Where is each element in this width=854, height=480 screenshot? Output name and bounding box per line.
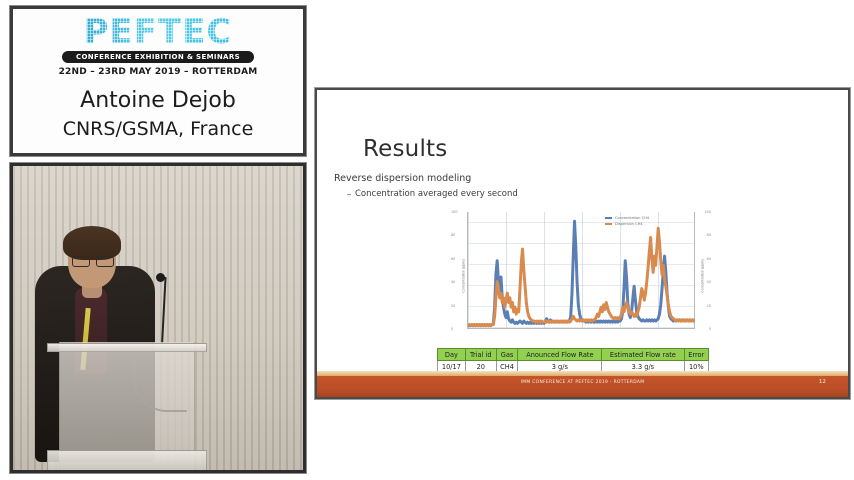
legend-item-1: Dispersion CH4: [605, 222, 649, 226]
legend-swatch-1: [605, 223, 612, 224]
legend-label-1: Dispersion CH4: [615, 222, 643, 226]
podium-top: [47, 450, 207, 470]
y-tick-left-0: 0: [451, 327, 453, 331]
legend-swatch-0: [605, 217, 612, 218]
footer-conference-label: IMM CONFERENCE AT PEFTEC 2019 - ROTTERDA…: [521, 380, 645, 385]
table-header-error: Error: [684, 349, 708, 361]
table-header-row: Day Trial id Gas Anounced Flow Rate Esti…: [438, 349, 709, 361]
peftec-dates-location: 22nd – 23rd MAY 2019 – ROTTERDAM: [59, 67, 258, 77]
presentation-screen: PEFTEC Conference Exhibition & Seminars …: [0, 0, 854, 480]
speaker-block: Antoine Dejob CNRS/GSMA, France: [13, 87, 303, 141]
y-tick-left-5: 100: [451, 210, 457, 214]
title-card: PEFTEC Conference Exhibition & Seminars …: [10, 6, 306, 156]
table-header-trial-id: Trial id: [465, 349, 496, 361]
podium-shelf: [47, 343, 207, 352]
glasses-icon: [72, 256, 114, 265]
y-tick-right-0: 0: [709, 327, 711, 331]
y-tick-right-3: 60: [707, 257, 711, 261]
slide-title: Results: [363, 136, 447, 162]
chart-legend: Concentration CH4 Dispersion CH4: [605, 216, 649, 226]
y-axis-right-title: Concentration (ppm): [700, 259, 704, 292]
slide-panel: Results Reverse dispersion modeling Conc…: [315, 88, 850, 399]
results-chart: Concentration (ppm) Concentration (ppm) …: [445, 208, 717, 343]
slide-footer: IMM CONFERENCE AT PEFTEC 2019 - ROTTERDA…: [317, 371, 848, 397]
speaker-hair: [63, 226, 121, 260]
table-header-day: Day: [438, 349, 466, 361]
bullet-dash-icon: [347, 194, 351, 195]
peftec-tagline-ribbon: Conference Exhibition & Seminars: [62, 51, 254, 63]
y-tick-left-2: 40: [451, 280, 455, 284]
speaker-affiliation: CNRS/GSMA, France: [13, 117, 303, 142]
speaker-video-panel: [10, 163, 306, 473]
slide-page-number: 12: [819, 379, 826, 385]
chart-plot-area: [467, 212, 695, 329]
y-tick-right-5: 100: [705, 210, 711, 214]
peftec-logo: PEFTEC Conference Exhibition & Seminars …: [13, 15, 303, 77]
y-tick-right-2: 40: [707, 280, 711, 284]
results-table-head: Day Trial id Gas Anounced Flow Rate Esti…: [438, 349, 709, 361]
table-header-gas: Gas: [496, 349, 518, 361]
y-tick-right-4: 80: [707, 233, 711, 237]
y-tick-left-4: 80: [451, 233, 455, 237]
y-tick-left-1: 20: [451, 304, 455, 308]
peftec-wordmark: PEFTEC: [84, 15, 233, 49]
speaker-name: Antoine Dejob: [13, 87, 303, 115]
slide-bullet-label: Concentration averaged every second: [355, 189, 518, 199]
slide-bullet-item: Concentration averaged every second: [347, 189, 518, 199]
microphone-icon: [156, 273, 165, 282]
legend-label-0: Concentration CH4: [615, 216, 649, 220]
chart-series-svg: [468, 212, 695, 328]
y-tick-right-1: 20: [707, 304, 711, 308]
legend-item-0: Concentration CH4: [605, 216, 649, 220]
table-header-estimated: Estimated Flow rate: [602, 349, 684, 361]
y-axis-left-title: Concentration (ppm): [462, 259, 466, 292]
results-table: Day Trial id Gas Anounced Flow Rate Esti…: [437, 348, 709, 373]
y-tick-left-3: 60: [451, 257, 455, 261]
slide-subheading: Reverse dispersion modeling: [334, 173, 471, 184]
table-header-announced: Anounced Flow Rate: [518, 349, 602, 361]
